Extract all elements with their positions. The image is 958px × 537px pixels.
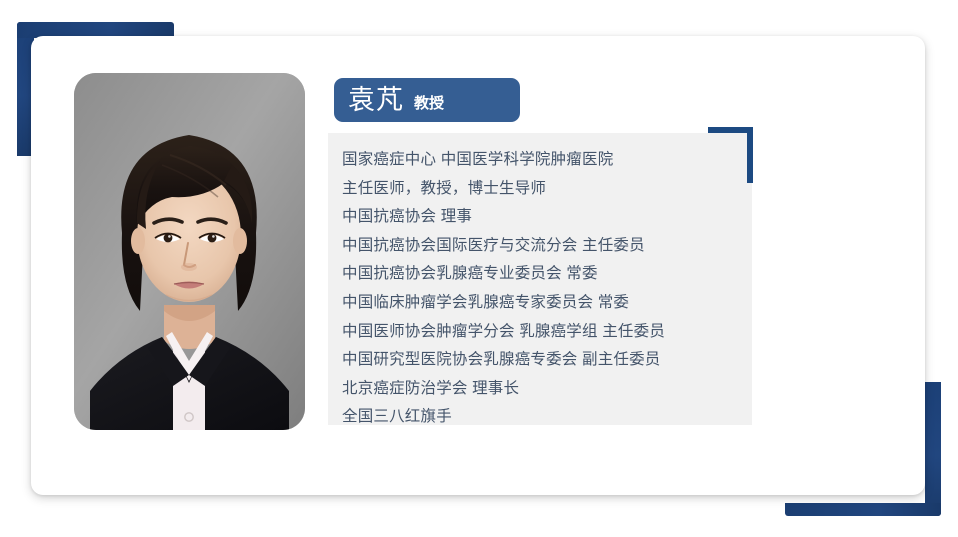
bottom-right-bracket-horizontal (785, 503, 941, 516)
credential-line: 国家癌症中心 中国医学科学院肿瘤医院 (342, 146, 752, 175)
credential-line: 中国研究型医院协会乳腺癌专委会 副主任委员 (342, 346, 752, 375)
portrait-illustration (74, 73, 305, 430)
credentials-panel: 国家癌症中心 中国医学科学院肿瘤医院 主任医师，教授，博士生导师 中国抗癌协会 … (328, 133, 752, 425)
credentials-bracket-vertical (747, 127, 753, 183)
speaker-portrait-photo (74, 73, 305, 430)
credential-line: 中国抗癌协会国际医疗与交流分会 主任委员 (342, 232, 752, 261)
slide-canvas: 袁芃 教授 国家癌症中心 中国医学科学院肿瘤医院 主任医师，教授，博士生导师 中… (0, 0, 958, 537)
credential-line: 全国三八红旗手 (342, 403, 752, 432)
credential-line: 北京癌症防治学会 理事长 (342, 375, 752, 404)
speaker-name-badge: 袁芃 教授 (334, 78, 520, 122)
credential-line: 中国抗癌协会 理事 (342, 203, 752, 232)
credential-line: 主任医师，教授，博士生导师 (342, 175, 752, 204)
credential-line: 中国抗癌协会乳腺癌专业委员会 常委 (342, 260, 752, 289)
bottom-right-bracket-vertical (925, 382, 941, 516)
credential-line: 中国医师协会肿瘤学分会 乳腺癌学组 主任委员 (342, 318, 752, 347)
credential-line: 中国临床肿瘤学会乳腺癌专家委员会 常委 (342, 289, 752, 318)
speaker-name: 袁芃 (348, 87, 404, 114)
speaker-title: 教授 (414, 96, 444, 111)
